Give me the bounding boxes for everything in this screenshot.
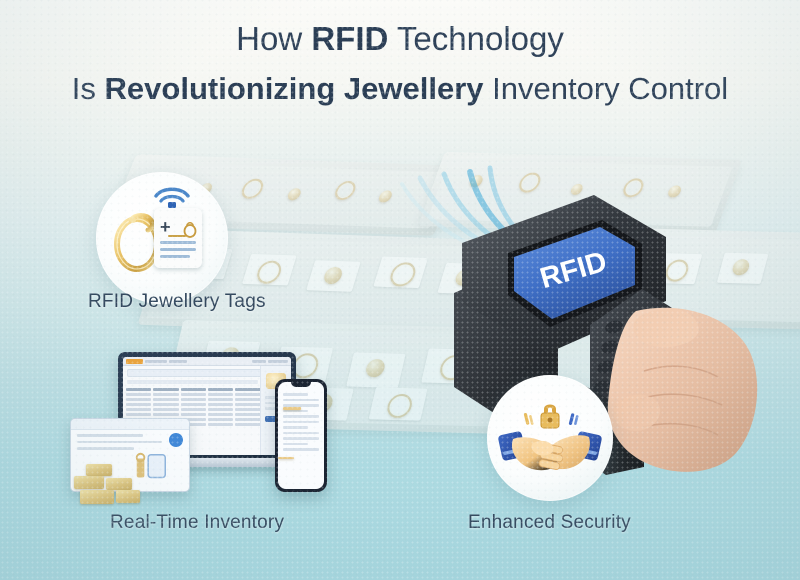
dashboard-primary-button (126, 359, 143, 364)
feature-icon-enhanced-security (487, 375, 613, 501)
title-line1-post: Technology (388, 20, 564, 57)
real-time-inventory-devices (70, 352, 350, 512)
caption-enhanced-security: Enhanced Security (468, 512, 631, 534)
phone-app-screen (278, 382, 324, 489)
title-line2-post: Inventory Control (484, 71, 729, 106)
sync-badge-icon (169, 433, 183, 447)
infographic-poster: RFID (0, 0, 800, 580)
title-line1-bold: RFID (311, 20, 388, 57)
title-line2-bold: Revolutionizing Jewellery (105, 71, 484, 106)
wifi-signal-icon (150, 178, 194, 208)
gold-bars-icon (72, 462, 144, 508)
smartphone-device (275, 379, 327, 492)
title-line1-pre: How (236, 20, 311, 57)
handshake-with-lock-icon (497, 393, 603, 479)
caption-rfid-jewellery-tags: RFID Jewellery Tags (88, 291, 266, 313)
caption-real-time-inventory: Real-Time Inventory (110, 512, 284, 534)
rfid-tag-card-icon: + (154, 208, 202, 268)
page-title: How RFID Technology Is Revolutionizing J… (0, 18, 800, 109)
title-line2-pre: Is (72, 71, 105, 106)
feature-icon-rfid-jewellery-tags: + (96, 172, 228, 304)
lock-icon (541, 405, 559, 429)
